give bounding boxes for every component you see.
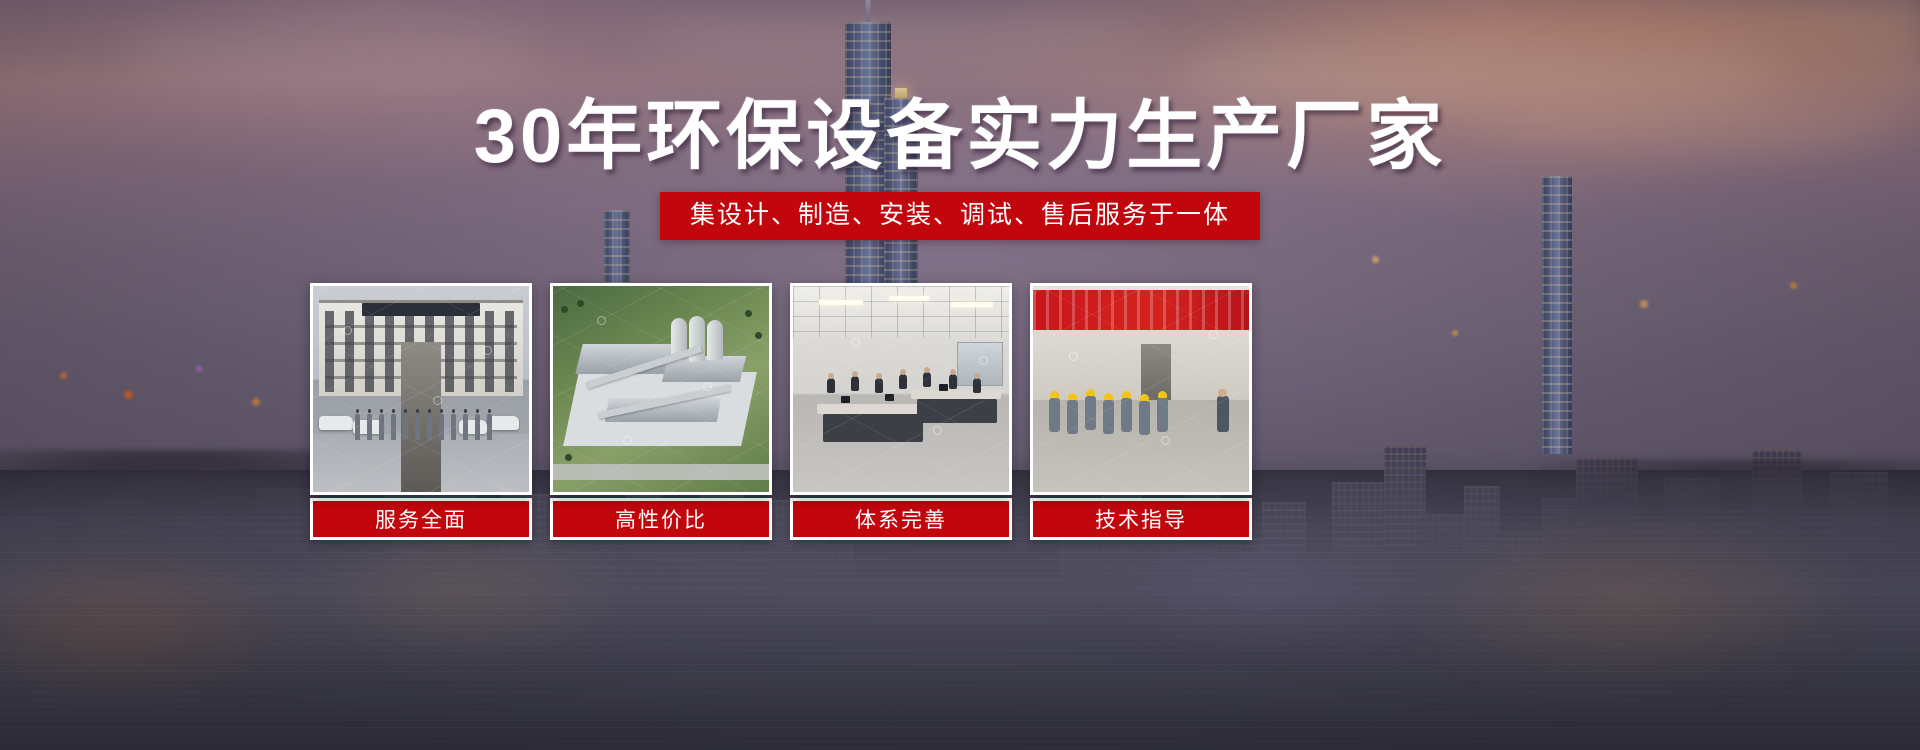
- hero-banner: 30年环保设备实力生产厂家 集设计、制造、安装、调试、售后服务于一体: [0, 0, 1920, 750]
- desk: [823, 414, 923, 442]
- feature-card-1-image-frame[interactable]: [310, 283, 532, 495]
- worker-with-helmet: [1067, 400, 1078, 434]
- open-plan-office-team-photo: [793, 286, 1009, 492]
- feature-card-2[interactable]: 高性价比: [550, 283, 772, 595]
- watermark-dot: [933, 426, 942, 435]
- desk-surface: [817, 404, 929, 414]
- staff-member: [403, 414, 408, 440]
- factory-banner: [1033, 290, 1249, 330]
- tree: [755, 332, 762, 339]
- factory-door: [1141, 344, 1171, 400]
- feature-card-4-image-frame[interactable]: [1030, 283, 1252, 495]
- hero-headline: 30年环保设备实力生产厂家: [0, 96, 1920, 178]
- monitor: [841, 396, 850, 403]
- monitor: [885, 394, 894, 401]
- watermark-dot: [597, 316, 606, 325]
- office-worker: [875, 378, 883, 393]
- staff-member: [487, 414, 492, 440]
- staff-member: [439, 414, 444, 440]
- feature-card-4[interactable]: 技术指导: [1030, 283, 1252, 595]
- aerial-industrial-plant-photo: [553, 286, 769, 492]
- worker-with-helmet: [1103, 400, 1114, 434]
- hero-subtitle-badge: 集设计、制造、安装、调试、售后服务于一体: [660, 192, 1260, 240]
- office-worker: [949, 374, 957, 389]
- staff-member: [379, 414, 384, 440]
- factory-floor-workers-photo: [1033, 286, 1249, 492]
- feature-card-1[interactable]: 服务全面: [310, 283, 532, 595]
- staff-member: [427, 414, 432, 440]
- office-worker: [827, 378, 835, 393]
- tree: [565, 454, 572, 461]
- feature-card-2-image-frame[interactable]: [550, 283, 772, 495]
- staff-member: [355, 414, 360, 440]
- feature-card-3-label[interactable]: 体系完善: [790, 498, 1012, 540]
- worker-with-helmet: [1049, 398, 1060, 432]
- worker-with-helmet: [1085, 396, 1096, 430]
- parked-car: [319, 416, 353, 430]
- office-building-staff-lineup-photo: [313, 286, 529, 492]
- feature-card-1-label[interactable]: 服务全面: [310, 498, 532, 540]
- storage-silo: [707, 320, 723, 360]
- worker-with-helmet: [1157, 398, 1168, 432]
- worker-with-helmet: [1139, 401, 1150, 435]
- supervisor: [1217, 396, 1229, 432]
- feature-card-3-image-frame[interactable]: [790, 283, 1012, 495]
- hero-subtitle-container: 集设计、制造、安装、调试、售后服务于一体: [0, 192, 1920, 240]
- office-worker: [899, 374, 907, 389]
- hero-content: 30年环保设备实力生产厂家 集设计、制造、安装、调试、售后服务于一体: [0, 0, 1920, 750]
- watermark-dot: [851, 338, 860, 347]
- ceiling-light: [889, 296, 929, 301]
- office-worker: [851, 376, 859, 391]
- desk-surface: [911, 390, 1001, 399]
- monitor: [939, 384, 948, 391]
- feature-card-list: 服务全面: [310, 283, 1610, 595]
- ceiling-light: [819, 300, 863, 305]
- staff-member: [463, 414, 468, 440]
- staff-member: [391, 414, 396, 440]
- worker-with-helmet: [1121, 398, 1132, 432]
- office-worker: [923, 372, 931, 387]
- ceiling-light: [951, 302, 993, 307]
- feature-card-3[interactable]: 体系完善: [790, 283, 1012, 595]
- staff-member: [475, 414, 480, 440]
- tree: [561, 306, 568, 313]
- staff-member: [415, 414, 420, 440]
- staff-member: [451, 414, 456, 440]
- feature-card-2-label[interactable]: 高性价比: [550, 498, 772, 540]
- desk: [917, 399, 997, 423]
- tree: [577, 300, 584, 307]
- plant-road: [553, 464, 769, 480]
- tree: [745, 310, 752, 317]
- company-sign: [362, 303, 480, 316]
- office-ceiling: [793, 286, 1009, 338]
- office-worker: [973, 378, 981, 393]
- feature-card-4-label[interactable]: 技术指导: [1030, 498, 1252, 540]
- staff-member: [367, 414, 372, 440]
